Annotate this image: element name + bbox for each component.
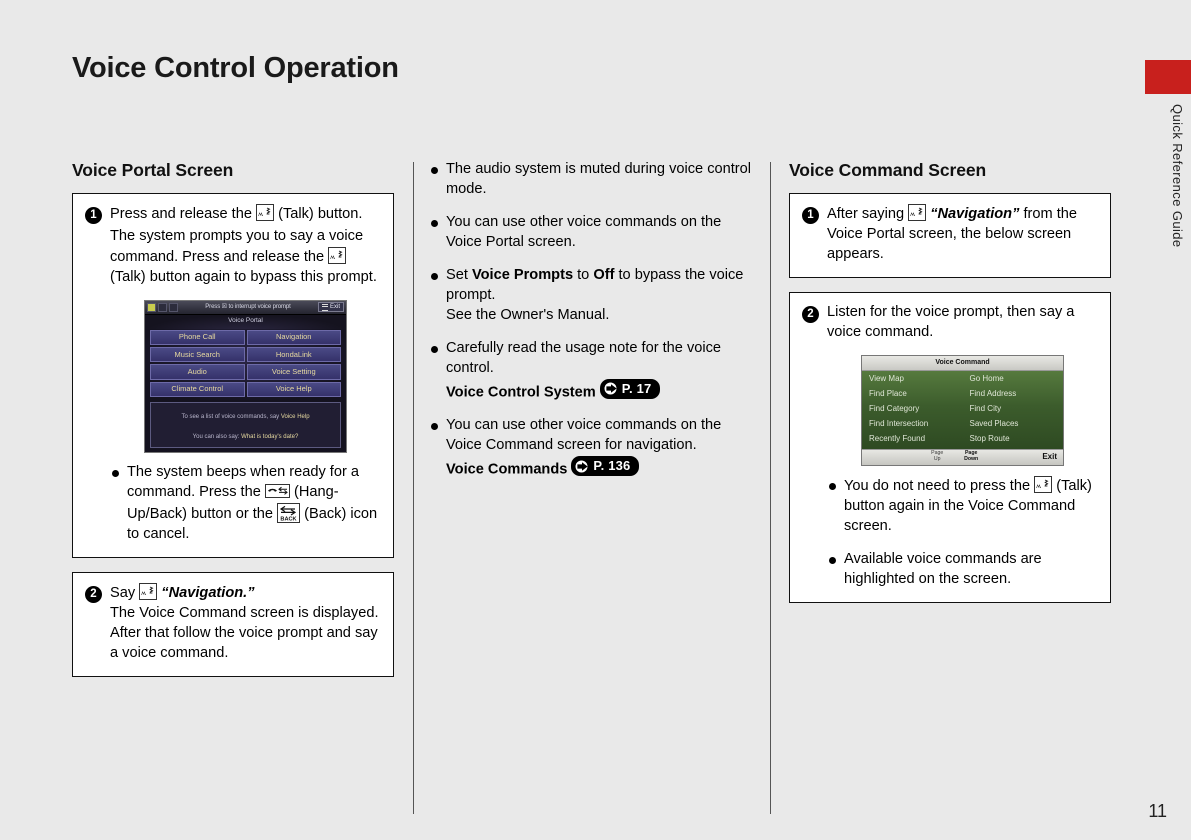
section-tab-marker [1145, 60, 1191, 94]
usage-ref-label: Voice Control System [446, 384, 596, 400]
vc-footer-bar: Page Up Page Down Exit [862, 449, 1063, 465]
vp-hint-area: To see a list of voice commands, say Voi… [150, 402, 341, 448]
step-number-badge: 2 [85, 586, 102, 603]
page-reference-badge[interactable]: P. 136 [571, 456, 639, 476]
vp-button[interactable]: Phone Call [150, 330, 245, 345]
step1-line1b: (Talk) button. [278, 206, 362, 222]
nav-ref-page: P. 136 [593, 457, 630, 475]
nav-text: You can use other voice commands on the … [446, 417, 721, 453]
vc-command[interactable]: Recently Found [862, 432, 963, 446]
vc-command[interactable]: Saved Places [963, 417, 1064, 431]
usage-text: Carefully read the usage note for the vo… [446, 340, 721, 376]
section-tab-label: Quick Reference Guide [1163, 104, 1185, 248]
vp-hint-2a: You can also say: [193, 434, 241, 440]
vp-button[interactable]: Voice Help [247, 382, 342, 397]
column-divider [770, 162, 771, 814]
vc-command-list: View Map Go Home Find Place Find Address… [862, 371, 1063, 450]
bullet-other-commands-portal: You can use other voice commands on the … [429, 213, 751, 253]
vp-status-bar: Press ☒ to interrupt voice prompt Exit [145, 301, 346, 315]
voice-command-screen-image: Voice Command View Map Go Home Find Plac… [861, 355, 1064, 466]
step-1-text: Press and release the ʍ (Talk) button. T… [110, 204, 381, 545]
talk-button-icon: ʍ [328, 247, 346, 264]
step2-line3: After that follow the voice prompt and s… [110, 624, 381, 664]
vc-page-up-button[interactable]: Page Up [920, 451, 954, 463]
vc-command[interactable]: Stop Route [963, 432, 1064, 446]
talk-button-icon: ʍ [1034, 476, 1052, 493]
step2-say-quote: “Navigation.” [161, 585, 254, 601]
voice-portal-screen-image: Press ☒ to interrupt voice prompt Exit V… [144, 300, 347, 453]
bullet-beep: The system beeps when ready for a comman… [110, 463, 381, 545]
bullet-muted: The audio system is muted during voice c… [429, 160, 751, 200]
menu-icon [322, 304, 328, 311]
page-reference-arrow-icon [575, 460, 590, 473]
vc-page-down-l2: Down [964, 456, 978, 462]
step-2: 2 Say ʍ “Navigation.” The Voice Command … [85, 583, 381, 664]
vp-button[interactable]: Music Search [150, 347, 245, 362]
vp-button[interactable]: HondaLink [247, 347, 342, 362]
r-step1-quote: “Navigation” [930, 206, 1019, 222]
vp-status-icons [147, 303, 178, 312]
vp-button[interactable]: Audio [150, 364, 245, 379]
middle-bullet-list: The audio system is muted during voice c… [429, 160, 751, 481]
vp-screen-title: Voice Portal [145, 315, 346, 329]
left-step1-bullets: The system beeps when ready for a comman… [110, 463, 381, 545]
svg-text:ʍ: ʍ [258, 210, 264, 218]
bullet-nav-commands: You can use other voice commands on the … [429, 416, 751, 480]
bullet-voice-prompts: Set Voice Prompts to Off to bypass the v… [429, 266, 751, 326]
step-2-text: Say ʍ “Navigation.” The Voice Command sc… [110, 583, 381, 664]
prompts-b: Voice Prompts [472, 267, 573, 283]
voice-portal-step-2-box: 2 Say ʍ “Navigation.” The Voice Command … [72, 572, 394, 677]
page-reference-arrow-icon [604, 382, 619, 395]
step-number-badge: 1 [85, 207, 102, 224]
step-1: 1 Press and release the ʍ (Talk) button.… [85, 204, 381, 545]
step2-line2: The Voice Command screen is displayed. [110, 604, 381, 624]
left-section-heading: Voice Portal Screen [72, 160, 394, 181]
usage-ref-page: P. 17 [622, 380, 652, 398]
column-divider [413, 162, 414, 814]
vc-command[interactable]: Find Place [862, 387, 963, 401]
svg-text:ʍ: ʍ [1036, 482, 1042, 490]
vc-page-down-button[interactable]: Page Down [954, 451, 988, 463]
r-step1-a: After saying [827, 206, 904, 222]
page-number: 11 [1148, 801, 1167, 822]
voice-command-step-1-box: 1 After saying ʍ “Navigation” from the V… [789, 193, 1111, 278]
voice-portal-step-1-box: 1 Press and release the ʍ (Talk) button.… [72, 193, 394, 558]
vc-command[interactable]: Find Address [963, 387, 1064, 401]
page-title: Voice Control Operation [72, 52, 399, 85]
back-icon: BACK [277, 503, 300, 523]
right-column: Voice Command Screen 1 After saying ʍ “N… [789, 160, 1111, 617]
step1-line2a: The system prompts you to say a voice co… [110, 228, 363, 265]
step2-say-label: Say [110, 585, 135, 601]
vc-screen-title: Voice Command [862, 356, 1063, 371]
svg-text:ʍ: ʍ [910, 210, 916, 218]
vp-status-icon [158, 303, 167, 312]
vc-command[interactable]: Go Home [963, 373, 1064, 387]
vp-prompt-text: Press ☒ to interrupt voice prompt [178, 303, 318, 311]
prompts-c: to [573, 267, 593, 283]
svg-text:ʍ: ʍ [141, 589, 147, 597]
prompts-d: Off [593, 267, 614, 283]
vc-command[interactable]: Find City [963, 402, 1064, 416]
step-1: 1 After saying ʍ “Navigation” from the V… [802, 204, 1098, 265]
vp-status-icon [169, 303, 178, 312]
vp-button[interactable]: Climate Control [150, 382, 245, 397]
vp-hint-2b: What is today's date? [241, 434, 298, 440]
vp-button[interactable]: Navigation [247, 330, 342, 345]
vp-exit-label: Exit [330, 303, 340, 311]
content-columns: Voice Portal Screen 1 Press and release … [72, 160, 1112, 820]
vp-hint-1b: Voice Help [281, 414, 310, 420]
step-number-badge: 1 [802, 207, 819, 224]
vc-exit-button[interactable]: Exit [1042, 452, 1059, 463]
vc-command[interactable]: Find Category [862, 402, 963, 416]
hangup-back-button-icon [265, 484, 290, 498]
left-column: Voice Portal Screen 1 Press and release … [72, 160, 394, 691]
bullet-usage-note: Carefully read the usage note for the vo… [429, 339, 751, 403]
page-reference-badge[interactable]: P. 17 [600, 379, 661, 399]
step-2: 2 Listen for the voice prompt, then say … [802, 303, 1098, 590]
step1-line1a: Press and release the [110, 206, 252, 222]
step-2-text: Listen for the voice prompt, then say a … [827, 303, 1098, 590]
vc-page-up-l2: Up [934, 456, 941, 462]
right-step2-bullets: You do not need to press the ʍ (Talk) bu… [827, 476, 1098, 590]
nav-ref-row: Voice CommandsP. 136 [446, 456, 751, 480]
right-section-heading: Voice Command Screen [789, 160, 1111, 181]
usage-ref-row: Voice Control SystemP. 17 [446, 379, 751, 403]
talk-button-icon: ʍ [139, 583, 157, 600]
vp-mic-icon [147, 303, 156, 312]
voice-command-step-2-box: 2 Listen for the voice prompt, then say … [789, 292, 1111, 603]
vp-button-grid: Phone Call Navigation Music Search Honda… [145, 329, 346, 400]
middle-column: The audio system is muted during voice c… [429, 160, 751, 481]
svg-text:ʍ: ʍ [330, 253, 336, 261]
bullet-highlighted: Available voice commands are highlighted… [827, 550, 1098, 590]
vp-hint-1a: To see a list of voice commands, say [181, 414, 280, 420]
svg-text:BACK: BACK [281, 517, 297, 523]
prompts-a: Set [446, 267, 472, 283]
step-1-text: After saying ʍ “Navigation” from the Voi… [827, 204, 1098, 265]
vp-button[interactable]: Voice Setting [247, 364, 342, 379]
step1-line2b: (Talk) button again to bypass this promp… [110, 269, 377, 285]
nav-ref-label: Voice Commands [446, 462, 567, 478]
vc-command[interactable]: Find Intersection [862, 417, 963, 431]
talk-button-icon: ʍ [256, 204, 274, 221]
r-step2-text: Listen for the voice prompt, then say a … [827, 303, 1098, 343]
step-number-badge: 2 [802, 306, 819, 323]
prompts-sub: See the Owner's Manual. [446, 306, 751, 326]
talk-bullet-a: You do not need to press the [844, 478, 1030, 494]
vp-exit-button[interactable]: Exit [318, 302, 344, 312]
vc-command[interactable]: View Map [862, 373, 963, 387]
bullet-no-talk-needed: You do not need to press the ʍ (Talk) bu… [827, 476, 1098, 537]
talk-button-icon: ʍ [908, 204, 926, 221]
